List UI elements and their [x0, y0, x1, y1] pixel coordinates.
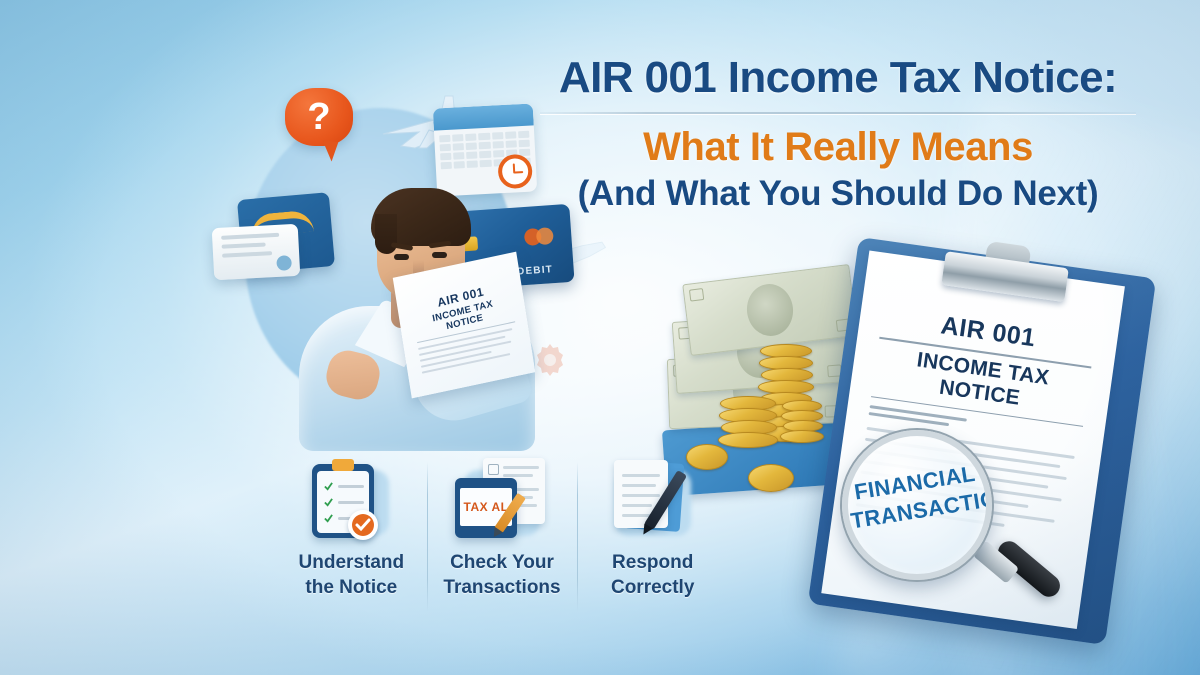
feature-label-line2: Transactions [443, 577, 560, 598]
feature-strip: Understand the Notice TAX AL [276, 452, 728, 624]
magnifier-lens: FINANCIAL TRANSACTIONS [842, 430, 992, 580]
tablet-form-icon: TAX AL [447, 456, 557, 542]
feature-label-respond: Respond Correctly [577, 550, 728, 600]
feature-label-line1: Check Your [450, 552, 554, 573]
page-subtitle-secondary: (And What You Should Do Next) [538, 172, 1138, 216]
feature-item-understand[interactable]: Understand the Notice [276, 452, 427, 624]
poster-canvas: CREDIT / DEBIT ? [0, 0, 1200, 675]
magnifying-glass-icon: FINANCIAL TRANSACTIONS [842, 430, 1058, 600]
check-badge-icon [348, 510, 378, 540]
person-hair [371, 188, 471, 246]
feature-label-line1: Understand [299, 552, 405, 573]
card-badge-icon [276, 255, 292, 271]
check-icon [324, 498, 333, 507]
title-divider [540, 112, 1136, 114]
page-subtitle: What It Really Means [538, 124, 1138, 170]
checklist-clipboard-icon [296, 456, 406, 542]
question-mark-icon: ? [285, 88, 353, 146]
page-title: AIR 001 Income Tax Notice: [538, 52, 1138, 104]
clipboard-body [312, 464, 374, 538]
feature-label-understand: Understand the Notice [276, 550, 427, 600]
held-notice-document: AIR 001 INCOME TAX NOTICE [393, 252, 536, 399]
feature-label-line2: Correctly [611, 577, 694, 598]
feature-item-check-transactions[interactable]: TAX AL Check Your Transactions [427, 452, 578, 624]
document-pen-icon [598, 456, 708, 542]
feature-item-respond[interactable]: Respond Correctly [577, 452, 728, 624]
coin-icon [748, 464, 794, 492]
info-card-icon [212, 224, 301, 280]
check-icon [324, 482, 333, 491]
checkbox-icon [488, 464, 499, 475]
headline-block: AIR 001 Income Tax Notice: What It Reall… [538, 52, 1138, 216]
magnifier-text: FINANCIAL TRANSACTIONS [845, 460, 990, 535]
person-eye-right [432, 252, 447, 258]
person-eye-left [394, 254, 409, 260]
feature-label-line1: Respond [612, 552, 693, 573]
clipboard-clip-icon [332, 459, 354, 471]
feature-label-check-transactions: Check Your Transactions [427, 550, 578, 600]
check-icon [352, 514, 374, 536]
feature-label-line2: the Notice [305, 577, 397, 598]
check-icon [324, 514, 333, 523]
question-mark-glyph: ? [285, 88, 353, 146]
